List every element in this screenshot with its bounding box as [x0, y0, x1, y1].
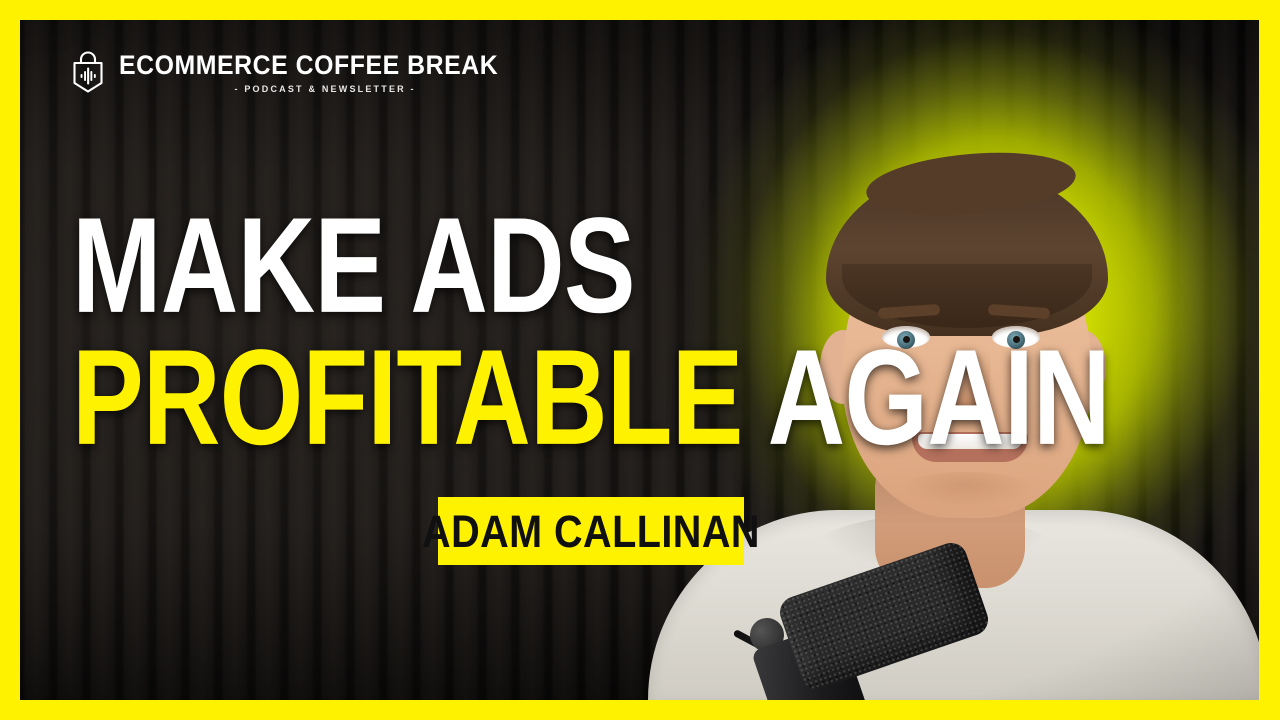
brand-title: ECOMMERCE COFFEE BREAK — [119, 52, 498, 79]
microphone — [748, 560, 998, 700]
headline-line-2: PROFITABLE AGAIN — [72, 340, 1110, 457]
headline-line-1: MAKE ADS — [72, 208, 1110, 325]
episode-headline: MAKE ADS PROFITABLE AGAIN — [72, 208, 1259, 450]
guest-name: ADAM CALLINAN — [422, 509, 760, 554]
brand-wordmark: ECOMMERCE COFFEE BREAK - PODCAST & NEWSL… — [119, 52, 531, 94]
brand-logo: ECOMMERCE COFFEE BREAK - PODCAST & NEWSL… — [68, 50, 531, 96]
headline-rest: AGAIN — [768, 322, 1110, 474]
microphone-windscreen — [776, 539, 993, 694]
headline-highlight: PROFITABLE — [72, 322, 743, 474]
shopping-bag-waveform-icon — [68, 50, 108, 96]
episode-thumbnail: ECOMMERCE COFFEE BREAK - PODCAST & NEWSL… — [0, 0, 1280, 720]
brand-subtitle: - PODCAST & NEWSLETTER - — [234, 84, 415, 94]
thumbnail-stage: ECOMMERCE COFFEE BREAK - PODCAST & NEWSL… — [20, 20, 1259, 700]
guest-name-banner: ADAM CALLINAN — [438, 497, 744, 565]
portrait-chin — [892, 472, 1042, 516]
